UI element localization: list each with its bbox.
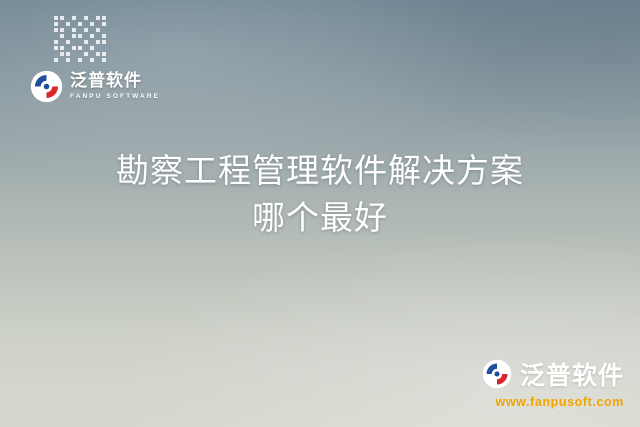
fanpu-watermark-icon [482,359,512,389]
banner-image: 泛普软件 FANPU SOFTWARE 勘察工程管理软件解决方案 哪个最好 泛普… [0,0,640,427]
brand-block: 泛普软件 FANPU SOFTWARE [30,14,190,114]
watermark-url: www.fanpusoft.com [482,395,624,409]
brand-name-en: FANPU SOFTWARE [70,94,160,101]
watermark-logo-row: 泛普软件 [482,356,624,392]
fanpu-logo-icon [30,70,63,103]
headline-line-2: 哪个最好 [0,195,640,242]
watermark-name-cn: 泛普软件 [520,356,624,392]
brand-logo-row: 泛普软件 FANPU SOFTWARE [30,70,160,103]
watermark: 泛普软件 www.fanpusoft.com [482,356,624,409]
headline-line-1: 勘察工程管理软件解决方案 [0,148,640,195]
headline: 勘察工程管理软件解决方案 哪个最好 [0,148,640,242]
brand-name-cn: 泛普软件 [70,73,160,90]
qr-code-mark [52,14,114,68]
